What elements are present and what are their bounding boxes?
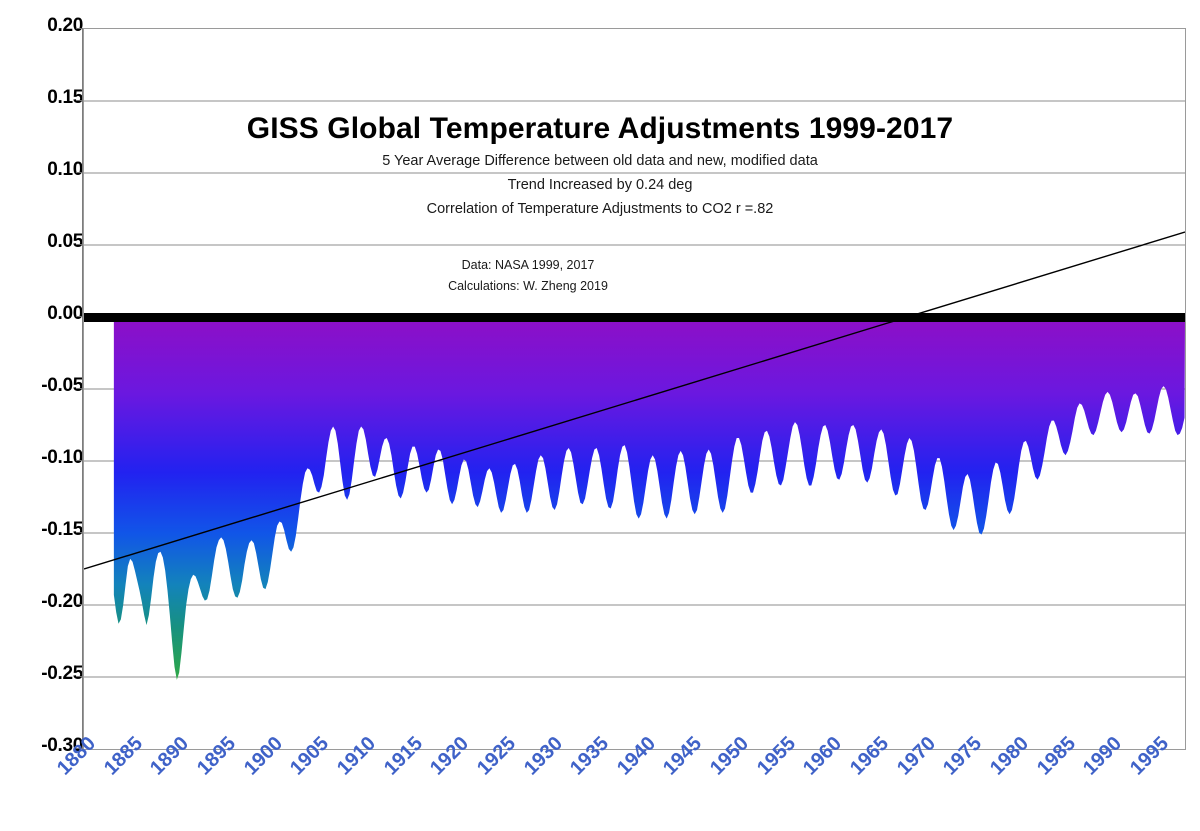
y-tick-label: 0.15 [9, 87, 83, 109]
credit-block: Data: NASA 1999, 2017 Calculations: W. Z… [348, 258, 708, 293]
y-tick-label: -0.15 [9, 519, 83, 541]
plot-area [83, 28, 1186, 750]
y-tick-label: -0.20 [9, 591, 83, 613]
x-axis: 1880188518901895190019051910191519201925… [0, 750, 1200, 831]
chart-root: 0.200.150.100.050.00-0.05-0.10-0.15-0.20… [0, 0, 1200, 831]
y-tick-label: -0.10 [9, 447, 83, 469]
credit-calculations: Calculations: W. Zheng 2019 [348, 279, 708, 293]
chart-canvas [84, 29, 1185, 749]
area-negative [114, 317, 1185, 680]
y-tick-label: 0.05 [9, 231, 83, 253]
y-axis: 0.200.150.100.050.00-0.05-0.10-0.15-0.20… [0, 0, 83, 760]
y-tick-label: 0.20 [9, 15, 83, 37]
y-tick-label: -0.25 [9, 663, 83, 685]
y-tick-label: 0.00 [9, 303, 83, 325]
y-tick-label: -0.05 [9, 375, 83, 397]
credit-data: Data: NASA 1999, 2017 [348, 258, 708, 272]
y-tick-label: 0.10 [9, 159, 83, 181]
zero-line-bar [84, 313, 1185, 322]
